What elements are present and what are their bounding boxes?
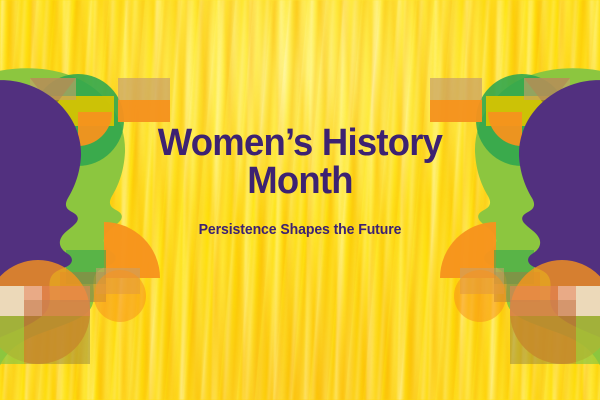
square-salmon-shoulder-mirrored	[510, 286, 576, 316]
page-title-line-1: Women’s History	[158, 122, 442, 164]
text-block: Women’s History Month Persistence Shapes…	[0, 124, 600, 238]
page-title-line-2: Month	[12, 162, 588, 200]
square-salmon-shoulder	[24, 286, 90, 316]
rectangle-orange-float-mirrored	[430, 100, 482, 122]
page-title: Women’s History Month	[12, 124, 588, 200]
square-green-shoulder	[0, 316, 24, 364]
rectangle-orange-float	[118, 100, 170, 122]
neck-shape-cluster-mirrored	[454, 268, 506, 322]
circle-orange-neck	[94, 270, 146, 322]
poster-canvas: Women’s History Month Persistence Shapes…	[0, 0, 600, 400]
page-subtitle: Persistence Shapes the Future	[9, 200, 591, 238]
circle-orange-neck-mirrored	[454, 270, 506, 322]
square-green-shoulder-mirrored	[576, 316, 600, 364]
neck-shape-cluster	[94, 268, 146, 322]
rectangle-tan-float-mirrored	[430, 78, 482, 100]
